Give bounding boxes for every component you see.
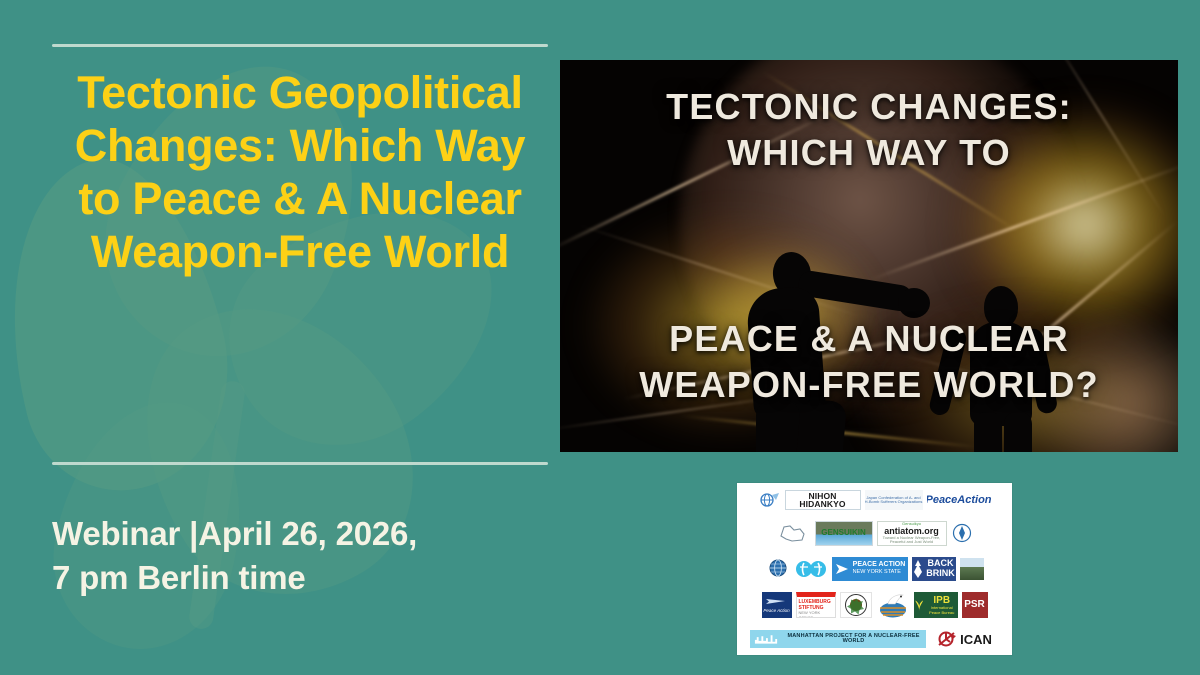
nihon-hidankyo-subtitle: Japan Confederation of A- and H-Bomb Suf… [865, 490, 923, 510]
ican-label: ICAN [960, 633, 992, 646]
sponsor-logo-panel: NIHON HIDANKYO Japan Confederation of A-… [737, 483, 1012, 655]
photo-logo [960, 558, 984, 580]
logo-row: NIHON HIDANKYO Japan Confederation of A-… [745, 490, 1004, 510]
blue-emblem-logo [951, 522, 973, 544]
ipb-sub: International Peace Bureau [926, 606, 958, 615]
peace-action-label: PeaceAction [927, 495, 991, 506]
antiatom-sub: Toward a Nuclear Weapon-Free, Peaceful a… [878, 536, 946, 545]
hero-headline-line-1: TECTONIC CHANGES: [560, 86, 1178, 128]
gensuikyo-antiatom-logo: Gensuikyo antiatom.org Toward a Nuclear … [877, 521, 947, 546]
ipb-logo: IPB International Peace Bureau [914, 592, 958, 618]
figure-silhouette [756, 400, 800, 452]
figure-silhouette [974, 412, 1002, 452]
logo-row: PEACE ACTION NEW YORK STATE BACK BRINK [745, 557, 1004, 581]
ican-logo: ICAN [930, 630, 1000, 648]
back-from-the-brink-logo: BACK BRINK [912, 557, 956, 581]
manhattan-label: MANHATTAN PROJECT FOR A NUCLEAR-FREE WOR… [782, 634, 926, 645]
brink-label-2: BRINK [926, 569, 955, 578]
hero-headline-line-3: PEACE & A NUCLEAR [560, 318, 1178, 360]
panys-label: PEACE ACTION [853, 561, 906, 570]
hidankyo-globe-logo [759, 490, 781, 510]
webinar-date-line: Webinar |April 26, 2026, [52, 512, 552, 556]
left-text-column: Tectonic Geopolitical Changes: Which Way… [0, 0, 560, 675]
ippnw-logo [766, 557, 790, 581]
peace-action-logo: PeaceAction [927, 490, 991, 510]
hero-headline-line-4: WEAPON-FREE WORLD? [560, 364, 1178, 406]
new-york-state-outline-logo [777, 521, 811, 545]
gensuikin-logo: GENSUIKIN [815, 521, 873, 546]
dove-globe-logo [876, 591, 910, 619]
figure-silhouette [898, 288, 930, 318]
webinar-time-line: 7 pm Berlin time [52, 556, 552, 600]
rosa-label: ROSA LUXEMBURG STIFTUNG [799, 594, 835, 611]
figure-silhouette [1004, 412, 1032, 452]
peace-action-navy-label: Peace Action [763, 609, 789, 614]
webinar-details: Webinar |April 26, 2026, 7 pm Berlin tim… [52, 512, 552, 599]
manhattan-project-logo: MANHATTAN PROJECT FOR A NUCLEAR-FREE WOR… [750, 630, 926, 648]
divider-top [52, 44, 548, 47]
nihon-hidankyo-sub: Japan Confederation of A- and H-Bomb Suf… [865, 496, 923, 505]
circular-emblem-logo [840, 592, 872, 618]
rosa-luxemburg-stiftung-logo: ROSA LUXEMBURG STIFTUNG NEW YORK OFFICE [796, 592, 836, 618]
hero-headline-line-2: WHICH WAY TO [560, 132, 1178, 174]
page-title: Tectonic Geopolitical Changes: Which Way… [50, 66, 550, 278]
gensuikin-label: GENSUIKIN [821, 529, 865, 537]
hero-image: TECTONIC CHANGES: WHICH WAY TO PEACE & A… [560, 60, 1178, 452]
logo-row: MANHATTAN PROJECT FOR A NUCLEAR-FREE WOR… [745, 630, 1004, 648]
wilpf-logo [794, 558, 828, 580]
logo-row: Peace Action ROSA LUXEMBURG STIFTUNG NEW… [745, 591, 1004, 619]
peace-action-navy-logo: Peace Action [762, 592, 792, 618]
logo-row: GENSUIKIN Gensuikyo antiatom.org Toward … [745, 521, 1004, 546]
rosa-sub: NEW YORK OFFICE [799, 611, 835, 618]
peace-action-new-york-state-logo: PEACE ACTION NEW YORK STATE [832, 557, 908, 581]
nihon-hidankyo-label: NIHON HIDANKYO [786, 492, 860, 509]
divider-bottom [52, 462, 548, 465]
panys-sub: NEW YORK STATE [853, 569, 906, 576]
nihon-hidankyo-logo: NIHON HIDANKYO [785, 490, 861, 510]
psr-logo: PSR [962, 592, 988, 618]
psr-label: PSR [964, 600, 985, 610]
